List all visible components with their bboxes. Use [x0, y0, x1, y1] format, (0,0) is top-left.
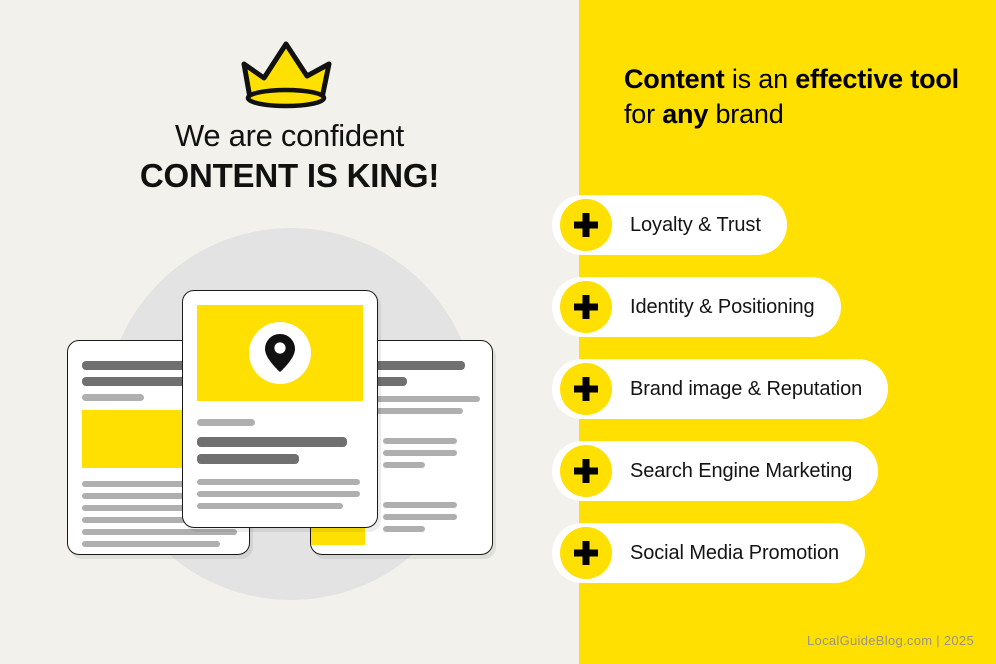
plus-icon[interactable]	[560, 445, 612, 497]
benefit-pill-label: Brand image & Reputation	[630, 378, 862, 401]
headline-segment-5: brand	[708, 99, 783, 129]
headline-segment-1: is an	[725, 64, 796, 94]
infographic-poster: We are confident CONTENT IS KING!	[0, 0, 996, 664]
right-yellow-panel: Content is an effective tool for any bra…	[579, 0, 996, 664]
headline-segment-0: Content	[624, 64, 725, 94]
plus-icon[interactable]	[560, 527, 612, 579]
benefit-pill-4[interactable]: Social Media Promotion	[552, 523, 865, 583]
benefit-pill-label: Search Engine Marketing	[630, 460, 852, 483]
map-pin-icon	[265, 334, 295, 372]
page-title: We are confident CONTENT IS KING!	[0, 118, 579, 195]
benefit-pill-label: Identity & Positioning	[630, 296, 815, 319]
document-card-center	[182, 290, 378, 528]
crown-icon	[234, 38, 338, 110]
headline-segment-3: for	[624, 99, 662, 129]
left-panel: We are confident CONTENT IS KING!	[0, 0, 579, 664]
page-title-line-1: We are confident	[0, 118, 579, 154]
map-pin-badge	[249, 322, 311, 384]
headline-segment-2: effective tool	[795, 64, 959, 94]
benefit-pill-label: Loyalty & Trust	[630, 214, 761, 237]
benefit-pill-0[interactable]: Loyalty & Trust	[552, 195, 787, 255]
benefits-list: Loyalty & TrustIdentity & PositioningBra…	[552, 195, 972, 605]
benefit-pill-1[interactable]: Identity & Positioning	[552, 277, 841, 337]
page-title-line-2: CONTENT IS KING!	[0, 157, 579, 195]
card-media-block	[197, 305, 363, 401]
benefit-pill-label: Social Media Promotion	[630, 542, 839, 565]
headline: Content is an effective tool for any bra…	[624, 62, 964, 131]
plus-icon[interactable]	[560, 199, 612, 251]
plus-icon[interactable]	[560, 363, 612, 415]
footer-credit: LocalGuideBlog.com | 2025	[807, 633, 974, 648]
plus-icon[interactable]	[560, 281, 612, 333]
benefit-pill-3[interactable]: Search Engine Marketing	[552, 441, 878, 501]
benefit-pill-2[interactable]: Brand image & Reputation	[552, 359, 888, 419]
headline-segment-4: any	[662, 99, 708, 129]
